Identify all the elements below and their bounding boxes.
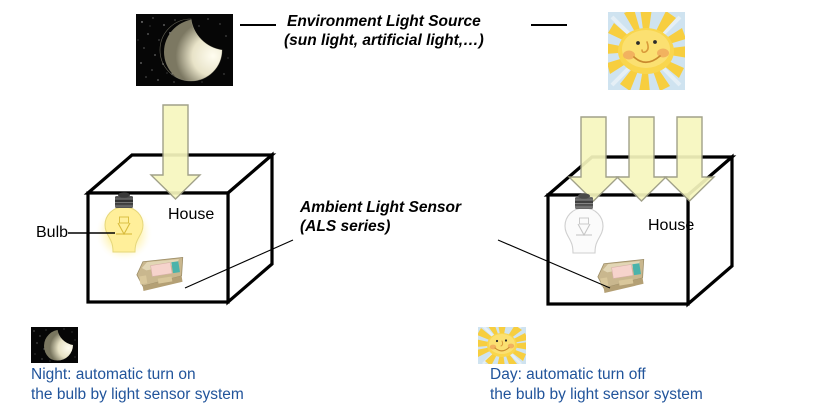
day-caption-line-1: Day: automatic turn off xyxy=(490,365,703,385)
sun-thumbnail-graphic xyxy=(478,327,526,364)
moon-thumbnail-night xyxy=(31,327,78,363)
als-line-2: (ALS series) xyxy=(300,217,461,236)
moon-thumbnail-graphic xyxy=(31,327,78,363)
right-scene xyxy=(420,100,816,315)
moon-image-night-source xyxy=(136,14,233,86)
ambient-light-sensor-label: Ambient Light Sensor (ALS series) xyxy=(300,198,461,236)
bulb-label: Bulb xyxy=(36,224,68,242)
title-line-1: Environment Light Source xyxy=(284,12,484,31)
moon-graphic xyxy=(136,14,233,86)
sun-graphic xyxy=(608,12,685,90)
night-caption: Night: automatic turn on the bulb by lig… xyxy=(31,365,244,405)
right-scene-graphic xyxy=(420,100,816,315)
diagram-canvas: Environment Light Source (sun light, art… xyxy=(0,0,816,418)
day-caption-line-2: the bulb by light sensor system xyxy=(490,385,703,405)
night-caption-line-2: the bulb by light sensor system xyxy=(31,385,244,405)
day-caption: Day: automatic turn off the bulb by ligh… xyxy=(490,365,703,405)
environment-light-source-label: Environment Light Source (sun light, art… xyxy=(284,12,484,50)
night-caption-line-1: Night: automatic turn on xyxy=(31,365,244,385)
left-house-label: House xyxy=(168,206,214,224)
title-leader-line-right xyxy=(531,24,567,26)
sun-thumbnail-day xyxy=(478,327,526,364)
title-line-2: (sun light, artificial light,…) xyxy=(284,31,484,50)
als-line-1: Ambient Light Sensor xyxy=(300,198,461,217)
right-house-label: House xyxy=(648,217,694,235)
title-leader-line-left xyxy=(240,24,276,26)
sun-image-day-source xyxy=(608,12,685,90)
